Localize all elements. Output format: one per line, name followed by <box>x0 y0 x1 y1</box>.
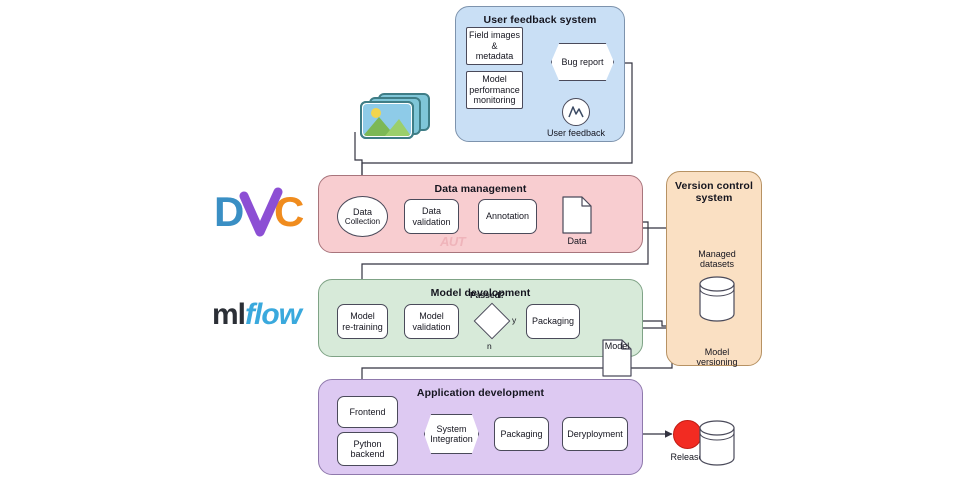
data-validation-line2: validation <box>412 217 450 227</box>
dvc-logo: D C <box>212 186 312 242</box>
monitoring-line3: monitoring <box>469 95 520 105</box>
backend-line2: backend <box>350 449 384 459</box>
model-validation-line1: Model <box>412 311 450 321</box>
vcs-title-line1: Version control <box>667 180 761 192</box>
frontend-label: Frontend <box>349 407 385 417</box>
mlflow-logo: mlflow <box>212 298 301 332</box>
node-python-backend[interactable]: Python backend <box>337 432 398 466</box>
mlflow-flow-text: flow <box>245 298 301 331</box>
node-system-integration[interactable]: System Integration <box>424 414 479 454</box>
data-collection-line2: Collection <box>345 217 380 226</box>
svg-text:D: D <box>214 188 243 235</box>
managed-datasets-line2: datasets <box>679 259 755 269</box>
decision-label-no: n <box>487 341 492 351</box>
caption-managed-datasets: Managed datasets <box>679 249 755 270</box>
field-images-line2: & <box>469 41 520 51</box>
artifact-data[interactable] <box>562 196 592 234</box>
mlflow-ml-text: ml <box>212 298 245 331</box>
aut-watermark-logo: AUT <box>440 234 465 249</box>
db-model-versioning[interactable] <box>699 420 735 466</box>
model-validation-line2: validation <box>412 322 450 332</box>
node-frontend[interactable]: Frontend <box>337 396 398 428</box>
integration-line1: System <box>430 424 473 434</box>
model-versioning-line1: Model <box>679 347 755 357</box>
caption-model-artifact: Model <box>587 341 647 351</box>
monitoring-line2: performance <box>469 85 520 95</box>
deployment-label: Deryployment <box>567 429 623 439</box>
node-data-validation[interactable]: Data validation <box>404 199 459 234</box>
node-user-feedback-icon[interactable] <box>562 98 590 126</box>
node-model-retraining[interactable]: Model re-training <box>337 304 388 339</box>
db-managed-datasets[interactable] <box>699 276 735 322</box>
vcs-title-line2: system <box>667 192 761 204</box>
node-release[interactable] <box>673 420 702 449</box>
bug-report-label: Bug report <box>561 57 603 67</box>
model-retraining-line1: Model <box>342 311 383 321</box>
node-field-images-metadata[interactable]: Field images & metadata <box>466 27 523 65</box>
node-data-collection[interactable]: Data Collection <box>337 196 388 237</box>
diagram-canvas: User feedback system Field images & meta… <box>0 0 970 485</box>
backend-line1: Python <box>350 439 384 449</box>
annotation-label: Annotation <box>486 211 529 221</box>
images-stack-icon <box>357 92 437 140</box>
node-deployment[interactable]: Deryployment <box>562 417 628 451</box>
data-validation-line1: Data <box>412 206 450 216</box>
node-app-packaging[interactable]: Packaging <box>494 417 549 451</box>
data-collection-line1: Data <box>345 207 380 217</box>
caption-data-artifact: Data <box>547 236 607 246</box>
model-retraining-line2: re-training <box>342 322 383 332</box>
decision-label-yes: y <box>512 315 516 325</box>
model-versioning-line2: versioning <box>679 357 755 367</box>
field-images-line3: metadata <box>469 51 520 61</box>
node-model-validation[interactable]: Model validation <box>404 304 459 339</box>
decision-label-passed: Passed? <box>470 290 505 300</box>
node-model-performance-monitoring[interactable]: Model performance monitoring <box>466 71 523 109</box>
panel-title-user-feedback-system: User feedback system <box>456 14 624 26</box>
app-packaging-label: Packaging <box>500 429 542 439</box>
node-model-packaging[interactable]: Packaging <box>526 304 580 339</box>
integration-line2: Integration <box>430 434 473 444</box>
panel-title-version-control-system: Version control system <box>667 180 761 204</box>
caption-model-versioning: Model versioning <box>679 347 755 368</box>
node-annotation[interactable]: Annotation <box>478 199 537 234</box>
monitoring-line1: Model <box>469 74 520 84</box>
field-images-line1: Field images <box>469 30 520 40</box>
node-bug-report[interactable]: Bug report <box>551 43 614 81</box>
analytics-icon <box>567 104 585 120</box>
panel-title-data-management: Data management <box>319 183 642 195</box>
caption-user-feedback: User feedback <box>536 128 616 138</box>
managed-datasets-line1: Managed <box>679 249 755 259</box>
model-packaging-label: Packaging <box>532 316 574 326</box>
